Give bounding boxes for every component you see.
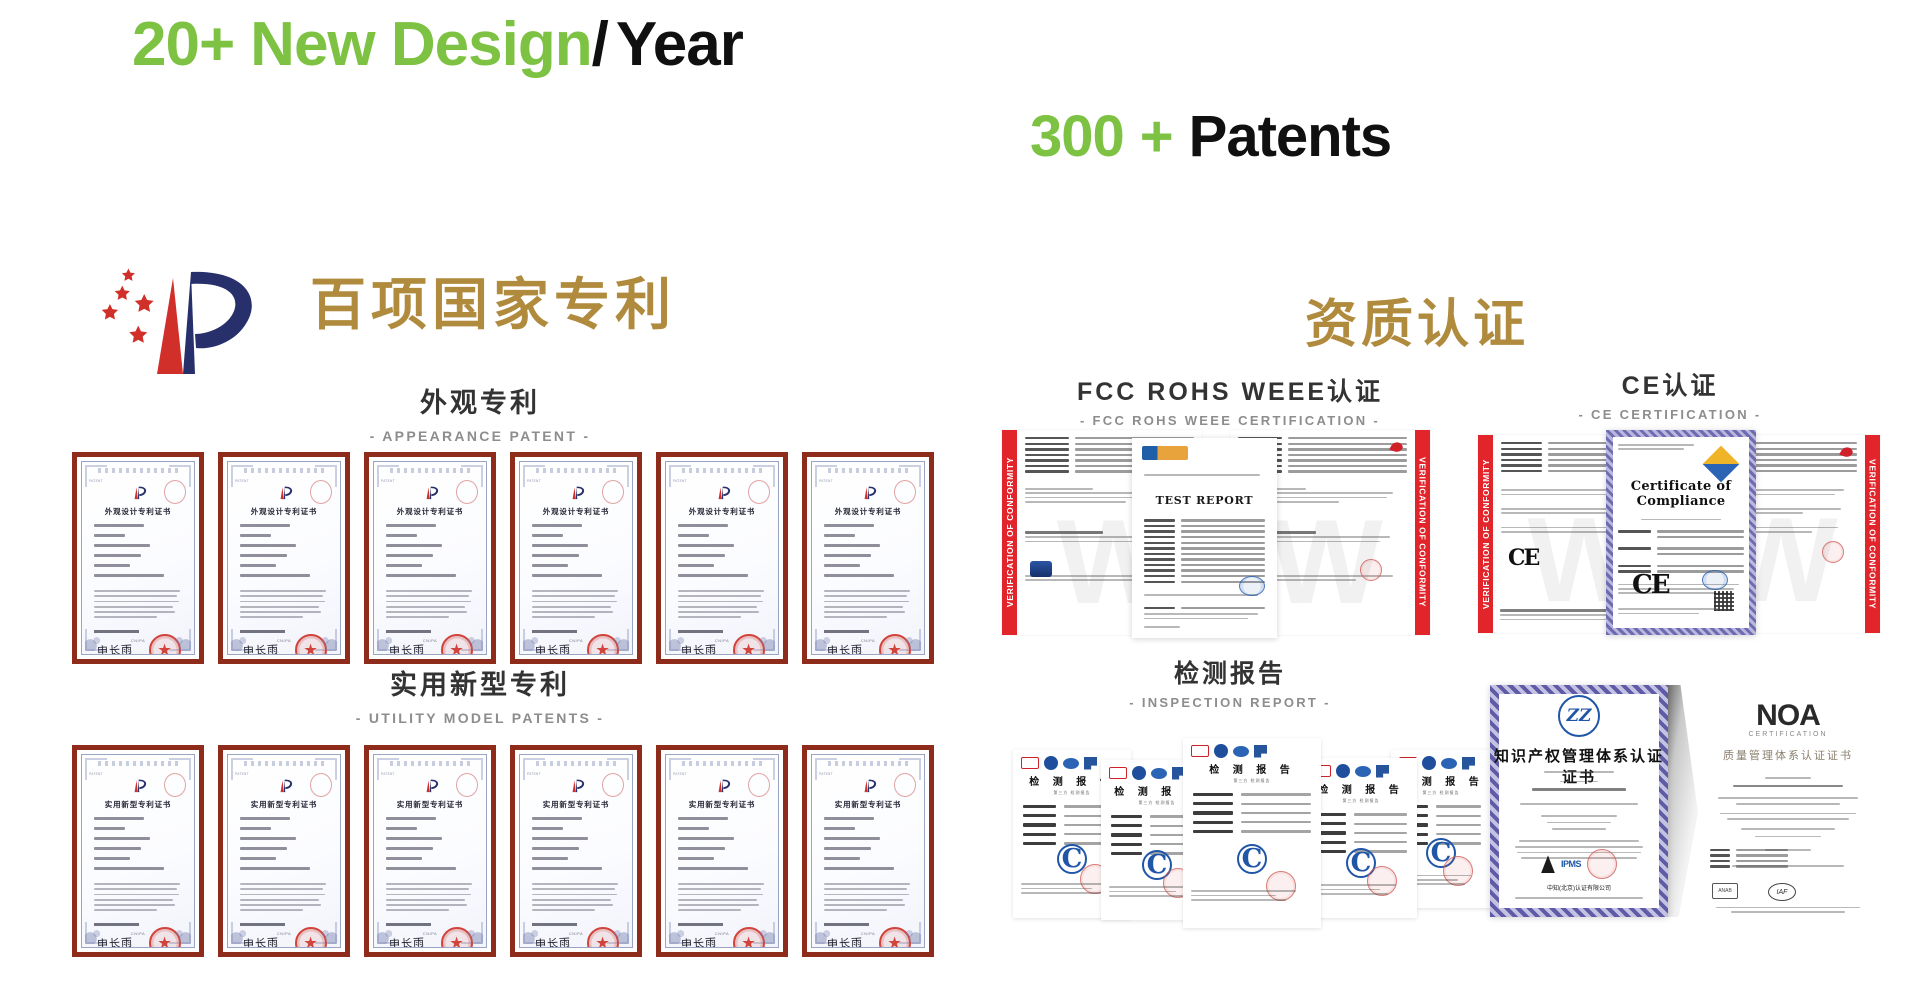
certificate-heading: 实用新型专利证书: [82, 799, 194, 810]
headline-patents-text: Patents: [1189, 104, 1392, 169]
ccc-mark-icon: C: [1237, 844, 1267, 874]
agency-logo-icon: [1254, 745, 1267, 758]
noa-subtitle: CERTIFICATION: [1748, 731, 1827, 738]
round-stamp-icon-2: [1360, 559, 1382, 581]
certificate-heading: 实用新型专利证书: [228, 799, 340, 810]
p-logo-icon: [419, 482, 441, 502]
ce-verification-band-right: VERIFICATION OF CONFORMITY: [1865, 435, 1880, 633]
headline-design-number: 20+: [132, 10, 234, 79]
patent-certificate[interactable]: PATENT实用新型专利证书申长雨CNIPA: [656, 745, 788, 957]
p-logo-icon: [565, 482, 587, 502]
headline-patents: 300+Patents: [1030, 108, 1391, 166]
cnas-logo-icon: [1151, 768, 1167, 779]
group-heading-appearance-en: - APPEARANCE PATENT -: [0, 428, 960, 444]
promo-page: 20+New Design/Year 300+Patents 百项国家专利 外观…: [0, 0, 1920, 999]
qualification-title: 资质认证: [1305, 282, 1529, 357]
cert-seal-outline-icon: [602, 773, 624, 797]
ce-compliance-page: Certificate of Compliance CE: [1606, 430, 1756, 635]
headline-new-design: 20+New Design/Year: [132, 14, 743, 76]
cert-seal-outline-icon: [310, 773, 332, 797]
inspection-report-title: 检 测 报 告: [1305, 781, 1417, 796]
patent-certificate[interactable]: PATENT实用新型专利证书申长雨CNIPA: [218, 745, 350, 957]
patent-certificate[interactable]: PATENT外观设计专利证书申长雨CNIPA: [656, 452, 788, 664]
certificate-heading: 外观设计专利证书: [812, 506, 924, 517]
group-heading-utility-cn: 实用新型专利: [0, 670, 960, 701]
scan-block-ce: VERIFICATION OF CONFORMITY W: [1478, 430, 1878, 645]
group-heading-ce-cn: CE认证: [1470, 372, 1870, 401]
noa-brand: NOA: [1756, 699, 1820, 733]
p-logo-icon: [711, 482, 733, 502]
inspection-report-page[interactable]: 检 测 报 告第三方 检测报告C: [1305, 758, 1417, 918]
certificate-heading: 外观设计专利证书: [374, 506, 486, 517]
patent-certificate[interactable]: PATENT外观设计专利证书申长雨CNIPA: [218, 452, 350, 664]
group-heading-appearance: 外观专利 - APPEARANCE PATENT -: [0, 388, 960, 444]
group-heading-fcc-en: - FCC ROHS WEEE CERTIFICATION -: [1000, 413, 1460, 428]
headline-design-year: Year: [616, 10, 743, 79]
inspection-report-title: 检 测 报 告: [1183, 761, 1321, 776]
ip-certificate-footer: 中知(北京)认证有限公司: [1508, 883, 1650, 892]
ce-nemko-icon-2: [1836, 443, 1856, 463]
ce-mark-front: CE: [1632, 570, 1669, 600]
noa-title-cn: 质量管理体系认证证书: [1706, 747, 1870, 763]
verification-band-text-2: VERIFICATION OF CONFORMITY: [1418, 457, 1428, 607]
inspection-report-page[interactable]: 检 测 报 告第三方 检测报告C: [1183, 738, 1321, 928]
patent-certificate[interactable]: PATENT实用新型专利证书申长雨CNIPA: [510, 745, 642, 957]
p-logo-icon: [565, 775, 587, 795]
group-heading-inspection: 检测报告 - INSPECTION REPORT -: [1000, 660, 1460, 710]
scan-block-fcc: VERIFICATION OF CONFORMITY W: [1002, 430, 1432, 645]
group-heading-utility: 实用新型专利 - UTILITY MODEL PATENTS -: [0, 670, 960, 726]
group-heading-inspection-en: - INSPECTION REPORT -: [1000, 695, 1460, 710]
lab-logo-icon: [1142, 446, 1188, 460]
cert-seal-outline-icon: [748, 480, 770, 504]
patent-certificate[interactable]: PATENT实用新型专利证书申长雨CNIPA: [802, 745, 934, 957]
ce-round-stamp-2: [1822, 541, 1844, 563]
anab-logo-icon: ANAB: [1712, 883, 1738, 899]
ipms-logo-icon: IPMS: [1561, 859, 1581, 869]
cert-seal-outline-icon: [310, 480, 332, 504]
brand-row: 百项国家专利: [95, 250, 715, 380]
agency-logo-icon: [1084, 757, 1097, 770]
patent-certificate[interactable]: PATENT实用新型专利证书申长雨CNIPA: [72, 745, 204, 957]
verification-band-text: VERIFICATION OF CONFORMITY: [1005, 457, 1015, 607]
cnas-logo-icon: [1441, 758, 1457, 769]
ce-verification-band-left: VERIFICATION OF CONFORMITY: [1478, 435, 1493, 633]
cert-seal-outline-icon: [456, 480, 478, 504]
iaf-logo-icon: IAF: [1768, 883, 1796, 901]
cert-seal-outline-icon: [164, 773, 186, 797]
cert-seal-outline-icon: [748, 773, 770, 797]
fcc-test-report-page: TEST REPORT: [1132, 438, 1277, 638]
cert-seal-outline-icon: [602, 480, 624, 504]
certificate-heading: 外观设计专利证书: [82, 506, 194, 517]
verification-band-right: VERIFICATION OF CONFORMITY: [1415, 430, 1430, 635]
certificate-row-appearance: PATENT外观设计专利证书申长雨CNIPAPATENT外观设计专利证书申长雨C…: [72, 452, 934, 664]
ip-management-certificate: 知识产权管理体系认证证书 IPMS: [1490, 685, 1668, 917]
blue-oval-stamp-icon: [1239, 576, 1265, 596]
certificate-row-utility: PATENT实用新型专利证书申长雨CNIPAPATENT实用新型专利证书申长雨C…: [72, 745, 934, 957]
p-logo-icon: [273, 775, 295, 795]
p-logo-icon: [273, 482, 295, 502]
nemko-logo-icon-2: [1386, 438, 1406, 458]
ccc-logo-icon: [1109, 767, 1127, 779]
certificate-heading: 外观设计专利证书: [520, 506, 632, 517]
group-heading-fcc: FCC ROHS WEEE认证 - FCC ROHS WEEE CERTIFIC…: [1000, 378, 1460, 428]
group-heading-inspection-cn: 检测报告: [1000, 660, 1460, 689]
headline-patents-number: 300: [1030, 104, 1124, 169]
ccc-logo-icon: [1021, 757, 1039, 769]
agency-logo-icon: [1376, 765, 1389, 778]
certificate-of-compliance-title: Certificate of Compliance: [1618, 479, 1744, 509]
accredited-badge-icon: [1030, 561, 1052, 577]
verification-band-left: VERIFICATION OF CONFORMITY: [1002, 430, 1017, 635]
certificate-heading: 实用新型专利证书: [520, 799, 632, 810]
ccc-logo-icon: [1191, 745, 1209, 757]
patent-certificate[interactable]: PATENT实用新型专利证书申长雨CNIPA: [364, 745, 496, 957]
patent-certificate[interactable]: PATENT外观设计专利证书申长雨CNIPA: [72, 452, 204, 664]
group-heading-appearance-cn: 外观专利: [0, 388, 960, 419]
zz-logo-icon: [1558, 695, 1600, 737]
certificate-heading: 实用新型专利证书: [812, 799, 924, 810]
ip-certificate-block: 知识产权管理体系认证证书 IPMS: [1490, 685, 1880, 925]
certificate-heading: 实用新型专利证书: [666, 799, 778, 810]
test-report-title: TEST REPORT: [1144, 494, 1265, 507]
p-logo-icon: [857, 775, 879, 795]
group-heading-ce: CE认证 - CE CERTIFICATION -: [1470, 372, 1870, 422]
certificate-heading: 外观设计专利证书: [666, 506, 778, 517]
p-logo-icon: [127, 482, 149, 502]
noa-certificate: NOA CERTIFICATION 质量管理体系认证证书: [1658, 685, 1880, 917]
patent-certificate[interactable]: PATENT外观设计专利证书申长雨CNIPA: [364, 452, 496, 664]
headline-patents-plus: +: [1140, 104, 1173, 169]
ip-red-stamp: [1587, 849, 1617, 879]
cert-seal-outline-icon: [164, 480, 186, 504]
agency-logo-icon: [1462, 757, 1475, 770]
lab-badge-icon: [1336, 764, 1350, 778]
certificate-heading: 外观设计专利证书: [228, 506, 340, 517]
lab-badge-icon: [1214, 744, 1228, 758]
p-logo-icon: [857, 482, 879, 502]
cnas-logo-icon: [1233, 746, 1249, 757]
ce-mark-left: CE: [1508, 545, 1538, 571]
ce-blue-oval-stamp: [1702, 570, 1728, 590]
cnas-logo-icon: [1063, 758, 1079, 769]
ce-band-text: VERIFICATION OF CONFORMITY: [1481, 459, 1491, 609]
ce-band-text-2: VERIFICATION OF CONFORMITY: [1868, 459, 1878, 609]
lab-badge-icon: [1132, 766, 1146, 780]
p-logo-icon: [419, 775, 441, 795]
p-logo-icon: [711, 775, 733, 795]
group-heading-ce-en: - CE CERTIFICATION -: [1470, 407, 1870, 422]
headline-design-text: New Design: [250, 10, 591, 79]
cnas-logo-icon: [1355, 766, 1371, 777]
patent-certificate[interactable]: PATENT外观设计专利证书申长雨CNIPA: [802, 452, 934, 664]
brand-title: 百项国家专利: [310, 260, 676, 341]
lab-badge-icon: [1044, 756, 1058, 770]
cert-seal-outline-icon: [456, 773, 478, 797]
cert-seal-outline-icon: [894, 773, 916, 797]
p-logo-five-stars: [95, 256, 275, 376]
inspection-report-fan: 检 测 报 告第三方 检测报告C检 测 报 告第三方 检测报告C检 测 报 告第…: [1005, 728, 1435, 943]
lab-badge-icon: [1422, 756, 1436, 770]
p-logo-icon: [127, 775, 149, 795]
group-heading-fcc-cn: FCC ROHS WEEE认证: [1000, 378, 1460, 407]
patent-certificate[interactable]: PATENT外观设计专利证书申长雨CNIPA: [510, 452, 642, 664]
cert-seal-outline-icon: [894, 480, 916, 504]
headline-design-separator: /: [592, 10, 608, 79]
certificate-heading: 实用新型专利证书: [374, 799, 486, 810]
group-heading-utility-en: - UTILITY MODEL PATENTS -: [0, 710, 960, 726]
